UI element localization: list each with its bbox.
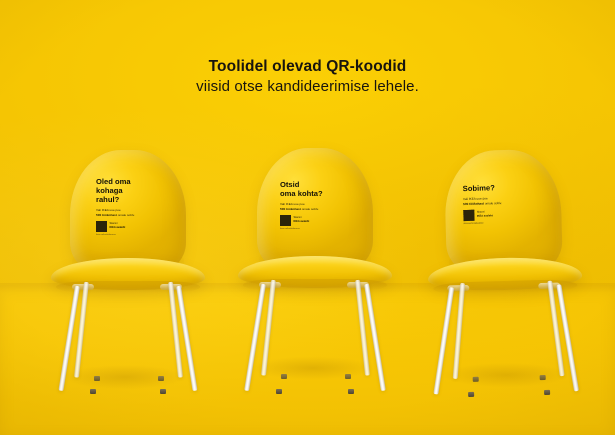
chair-label-footnote: ikea.ee/tooleikeasse xyxy=(280,228,346,230)
chair-foot-back-right xyxy=(540,375,546,380)
qr-code-icon[interactable] xyxy=(96,221,107,232)
qr-caption: Skanni IKEA avaleht xyxy=(294,215,310,225)
chair-foot-front-left xyxy=(276,389,282,394)
chair-left[interactable]: Oled oma kohaga rahul? Vali IKEA uue poe… xyxy=(48,150,208,400)
chair-foot-front-right xyxy=(544,390,550,395)
chair-foot-back-left xyxy=(94,376,100,381)
chair-right[interactable]: Sobime? Vali IKEA uue poe 500 töökohast … xyxy=(422,148,588,402)
chair-label-footnote: ikea.ee/tooleikeasse xyxy=(96,234,158,236)
chair-label-right: Sobime? Vali IKEA uue poe 500 töökohast … xyxy=(463,183,530,224)
qr-caption: Skanni IKEA avaleht xyxy=(477,209,493,219)
chair-label-qr-row[interactable]: Skanni IKEA avaleht xyxy=(463,208,529,221)
chair-foot-back-left xyxy=(473,377,479,382)
chair-label-qr-row[interactable]: Skanni IKEA avaleht xyxy=(96,221,158,232)
chair-label-body: Vali IKEA uue poe 500 töökohast omale so… xyxy=(96,208,158,217)
chair-foot-back-left xyxy=(281,374,287,379)
qr-caption: Skanni IKEA avaleht xyxy=(110,221,126,231)
chair-center[interactable]: Otsid oma kohta? Vali IKEA uue poe 500 t… xyxy=(235,148,395,398)
chair-foot-front-right xyxy=(348,389,354,394)
chair-label-body: Vali IKEA uue poe 500 töökohast omale so… xyxy=(280,202,346,211)
qr-code-icon[interactable] xyxy=(463,210,474,221)
chair-label-headline: Otsid oma kohta? xyxy=(280,181,346,199)
advertisement-photo: Toolidel olevad QR-koodid viisid otse ka… xyxy=(0,0,615,435)
chair-label-headline: Sobime? xyxy=(463,183,529,194)
chair-label-headline: Oled oma kohaga rahul? xyxy=(96,178,158,205)
chair-foot-back-right xyxy=(158,376,164,381)
chair-foot-front-right xyxy=(160,389,166,394)
chair-leg-back-left xyxy=(453,283,466,379)
headline-line-2: viisid otse kandideerimise lehele. xyxy=(0,77,615,97)
chair-foot-front-left xyxy=(468,392,474,397)
qr-code-icon[interactable] xyxy=(280,215,291,226)
chair-foot-front-left xyxy=(90,389,96,394)
chair-label-qr-row[interactable]: Skanni IKEA avaleht xyxy=(280,215,346,226)
chair-label-center: Otsid oma kohta? Vali IKEA uue poe 500 t… xyxy=(280,181,346,230)
chair-foot-back-right xyxy=(345,374,351,379)
chair-label-left: Oled oma kohaga rahul? Vali IKEA uue poe… xyxy=(96,178,158,236)
headline-line-1: Toolidel olevad QR-koodid xyxy=(0,57,615,77)
chair-leg-front-left xyxy=(433,287,454,395)
chair-label-body: Vali IKEA uue poe 500 töökohast omale so… xyxy=(463,195,529,206)
page-title: Toolidel olevad QR-koodid viisid otse ka… xyxy=(0,57,615,97)
